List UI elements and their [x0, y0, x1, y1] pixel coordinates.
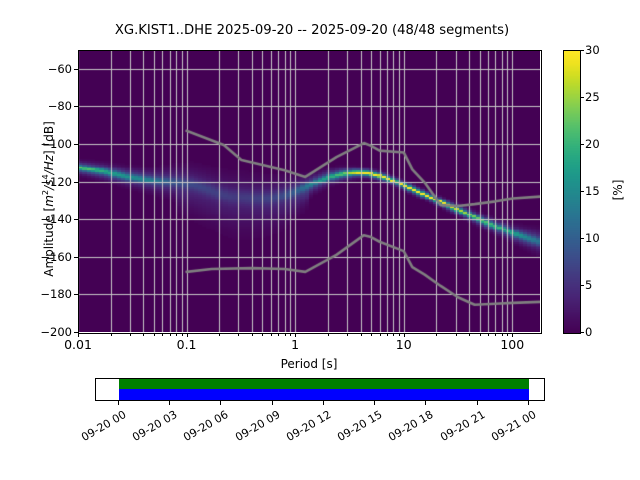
x-axis-minor-tick — [456, 333, 457, 336]
colorbar-tick-label: 25 — [585, 90, 600, 104]
x-axis-minor-tick — [436, 333, 437, 336]
x-axis-minor-tick — [278, 333, 279, 336]
noise-model-overlay — [78, 50, 540, 332]
x-axis-minor-tick — [347, 333, 348, 336]
colorbar-tick-label: 5 — [585, 278, 592, 292]
x-axis-tick-label: 100 — [500, 337, 524, 352]
x-axis-minor-tick — [111, 333, 112, 336]
x-axis-minor-tick — [469, 333, 470, 336]
x-axis-minor-tick — [387, 333, 388, 336]
colorbar-tick-label: 15 — [585, 184, 600, 198]
x-axis-label: Period [s] — [78, 357, 540, 371]
y-axis-tick-mark — [74, 294, 78, 295]
timeline-tick-label: 09-21 00 — [487, 408, 539, 445]
x-axis-minor-tick — [162, 333, 163, 336]
x-axis-minor-tick — [154, 333, 155, 336]
x-axis-minor-tick — [130, 333, 131, 336]
x-axis-minor-tick — [219, 333, 220, 336]
colorbar-gradient — [564, 51, 580, 333]
timeline-tick-mark — [374, 401, 375, 405]
x-axis-minor-tick — [507, 333, 508, 336]
x-axis-tick-label: 1 — [291, 337, 299, 352]
colorbar-tick-mark — [580, 50, 584, 51]
y-axis-label-prefix: Amplitude [ — [42, 207, 56, 277]
colorbar-tick-label: 0 — [585, 325, 592, 339]
colorbar-tick-mark — [580, 238, 584, 239]
colorbar-tick-mark — [580, 97, 584, 98]
y-axis-unit-s: /s — [42, 180, 56, 190]
coverage-timeline[interactable] — [95, 378, 545, 401]
timeline-tick-label: 09-20 21 — [436, 408, 488, 445]
x-axis-minor-tick — [238, 333, 239, 336]
timeline-tick-label: 09-20 12 — [282, 408, 334, 445]
timeline-tick-label: 09-20 03 — [128, 408, 180, 445]
timeline-tick-mark — [118, 401, 119, 405]
y-axis-tick-mark — [74, 182, 78, 183]
colorbar[interactable] — [563, 50, 581, 334]
x-axis-minor-tick — [380, 333, 381, 336]
colorbar-tick-label: 20 — [585, 137, 600, 151]
y-axis-exp-4: 4 — [40, 174, 50, 179]
x-axis-minor-tick — [290, 333, 291, 336]
y-axis-label: Amplitude [m2/s4/Hz] [dB] — [40, 59, 56, 339]
y-axis-tick-mark — [74, 219, 78, 220]
timeline-tick-mark — [169, 401, 170, 405]
timeline-tick-mark — [272, 401, 273, 405]
y-axis-label-suffix: ] [dB] — [42, 121, 56, 155]
x-axis-minor-tick — [143, 333, 144, 336]
x-axis-tick-label: 0.1 — [177, 337, 197, 352]
x-axis-tick-label: 0.01 — [64, 337, 92, 352]
x-axis-minor-tick — [480, 333, 481, 336]
x-axis-minor-tick — [262, 333, 263, 336]
colorbar-tick-mark — [580, 144, 584, 145]
colorbar-tick-mark — [580, 285, 584, 286]
timeline-tick-mark — [477, 401, 478, 405]
coverage-bar-green — [119, 379, 529, 389]
colorbar-tick-label: 30 — [585, 43, 600, 57]
coverage-bar-blue — [119, 389, 529, 400]
y-axis-tick-mark — [74, 257, 78, 258]
colorbar-tick-mark — [580, 332, 584, 333]
x-axis-minor-tick — [176, 333, 177, 336]
ppsd-plot-area[interactable] — [78, 50, 540, 332]
timeline-tick-label: 09-20 09 — [231, 408, 283, 445]
x-axis-minor-tick — [252, 333, 253, 336]
x-axis-minor-tick — [361, 333, 362, 336]
y-axis-tick-mark — [74, 69, 78, 70]
x-axis-minor-tick — [399, 333, 400, 336]
timeline-tick-mark — [528, 401, 529, 405]
colorbar-tick-label: 10 — [585, 231, 600, 245]
x-axis-minor-tick — [371, 333, 372, 336]
colorbar-label: [%] — [611, 150, 625, 230]
timeline-tick-label: 09-20 18 — [384, 408, 436, 445]
x-axis-minor-tick — [488, 333, 489, 336]
timeline-tick-label: 09-20 06 — [179, 408, 231, 445]
x-axis-minor-tick — [502, 333, 503, 336]
timeline-tick-mark — [220, 401, 221, 405]
x-axis-minor-tick — [285, 333, 286, 336]
x-axis-minor-tick — [271, 333, 272, 336]
x-axis-minor-tick — [495, 333, 496, 336]
y-axis-tick-mark — [74, 144, 78, 145]
y-axis-exp-2: 2 — [40, 190, 50, 195]
x-axis-minor-tick — [393, 333, 394, 336]
x-axis-minor-tick — [182, 333, 183, 336]
x-axis-minor-tick — [328, 333, 329, 336]
page-title: XG.KIST1..DHE 2025-09-20 -- 2025-09-20 (… — [0, 23, 624, 38]
timeline-tick-mark — [323, 401, 324, 405]
x-axis-tick-label: 10 — [396, 337, 412, 352]
y-axis-unit-m: m — [42, 195, 56, 207]
timeline-tick-label: 09-20 15 — [333, 408, 385, 445]
y-axis-unit-hz: /Hz — [42, 155, 56, 174]
y-axis-tick-mark — [74, 106, 78, 107]
ppsd-figure: XG.KIST1..DHE 2025-09-20 -- 2025-09-20 (… — [0, 0, 640, 480]
colorbar-tick-mark — [580, 191, 584, 192]
timeline-tick-label: 09-20 00 — [77, 408, 129, 445]
x-axis-minor-tick — [170, 333, 171, 336]
timeline-tick-mark — [425, 401, 426, 405]
